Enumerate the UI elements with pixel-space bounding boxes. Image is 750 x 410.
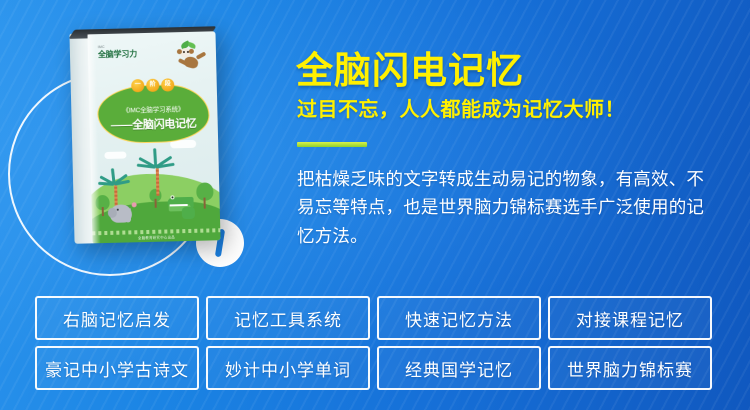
tag-item[interactable]: 对接课程记忆: [548, 296, 712, 340]
tag-item[interactable]: 右脑记忆启发: [35, 296, 199, 340]
promo-banner: IMC 全脑学习力: [0, 0, 750, 410]
brand-logo: IMC 全脑学习力: [98, 45, 137, 58]
description-text: 把枯燥乏味的文字转成生动易记的物象，有高效、不易忘等特点，也是世界脑力锦标赛选手…: [297, 165, 717, 250]
monkey-icon: [172, 39, 209, 72]
tag-item[interactable]: 记忆工具系统: [206, 296, 370, 340]
feature-tag-grid: 右脑记忆启发 记忆工具系统 快速记忆方法 对接课程记忆 豪记中小学古诗文 妙计中…: [35, 296, 712, 390]
product-box: IMC 全脑学习力: [69, 26, 222, 248]
stage-badge: 段: [161, 78, 174, 91]
tag-item[interactable]: 妙计中小学单词: [206, 346, 370, 390]
headline: 全脑闪电记忆: [296, 52, 524, 89]
stage-badge: 一: [131, 79, 144, 92]
subheadline: 过目不忘，人人都能成为记忆大师！: [297, 100, 625, 120]
cloud-icon: [104, 151, 126, 159]
tag-item[interactable]: 经典国学记忆: [377, 346, 541, 390]
tag-item[interactable]: 快速记忆方法: [377, 296, 541, 340]
cover-title-blob: 一 阶 段 《IMC全脑学习系统》 ——全脑闪电记忆: [97, 83, 210, 144]
product-image-zone: IMC 全脑学习力: [0, 0, 285, 290]
crocodile-icon: [167, 193, 204, 220]
tag-item[interactable]: 豪记中小学古诗文: [35, 346, 199, 390]
stage-badge: 阶: [146, 79, 159, 92]
palm-tree-icon: [138, 153, 177, 196]
copy-zone: 全脑闪电记忆 过目不忘，人人都能成为记忆大师！ 把枯燥乏味的文字转成生动易记的物…: [296, 0, 740, 290]
cover-product-title: ——全脑闪电记忆: [98, 114, 210, 133]
divider-rule: [297, 142, 367, 147]
elephant-icon: [107, 196, 138, 227]
brand-logo-cn: 全脑学习力: [98, 50, 137, 59]
stage-badges: 一 阶 段: [131, 78, 174, 92]
box-front-cover: IMC 全脑学习力: [87, 31, 220, 243]
tag-item[interactable]: 世界脑力锦标赛: [548, 346, 712, 390]
